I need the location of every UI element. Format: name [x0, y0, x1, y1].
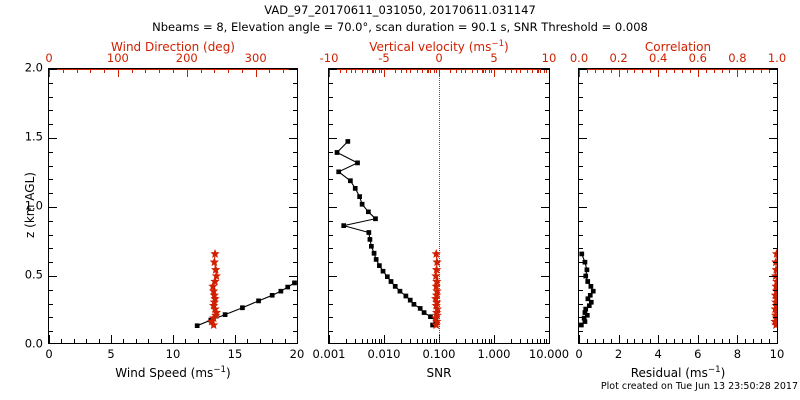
- data-point: [257, 299, 261, 303]
- x-tick-bottom-minor: [86, 339, 87, 343]
- x-tick-bottom-minor: [247, 339, 248, 343]
- y-tick-left-minor: [49, 166, 53, 167]
- y-tick-left-minor: [49, 248, 53, 249]
- x-tick-bottom-minor: [706, 339, 707, 343]
- x-tick-bottom-minor: [714, 339, 715, 343]
- y-tick-right-minor: [773, 152, 777, 153]
- y-tick-left-minor: [579, 179, 583, 180]
- y-tick-left: [579, 207, 587, 208]
- x-tick-top-minor: [611, 69, 612, 73]
- x-axis-tick-label-top: -10: [320, 53, 339, 64]
- data-point: [408, 298, 412, 302]
- x-tick-bottom: [485, 339, 486, 343]
- x-tick-bottom-minor: [729, 339, 730, 343]
- panel-residual: [578, 68, 778, 344]
- x-tick-top-minor: [527, 69, 528, 73]
- data-point: [373, 217, 377, 221]
- data-point: [773, 250, 778, 257]
- y-tick-right-minor: [773, 97, 777, 98]
- y-tick-left-minor: [49, 221, 53, 222]
- y-tick-left-minor: [579, 262, 583, 263]
- data-point: [586, 279, 590, 283]
- y-tick-left-minor: [329, 248, 333, 249]
- x-tick-bottom: [489, 339, 490, 343]
- data-point: [367, 230, 371, 234]
- panel-snr-frame: [328, 68, 550, 344]
- y-tick-right-minor: [545, 304, 549, 305]
- x-tick-bottom: [436, 339, 437, 343]
- data-point: [381, 269, 385, 273]
- y-tick-left-minor: [49, 235, 53, 236]
- x-tick-top-mirror: [456, 69, 457, 73]
- x-axis-tick-label-top: 0.6: [689, 53, 707, 64]
- x-axis-title-top: Wind Direction (deg): [111, 40, 235, 54]
- y-tick-left-minor: [329, 331, 333, 332]
- x-axis-tick-label-bottom: 20: [290, 349, 305, 360]
- x-tick-bottom: [698, 335, 699, 343]
- x-tick-bottom-minor: [136, 339, 137, 343]
- x-tick-top-minor: [269, 69, 270, 73]
- x-tick-top-mirror: [532, 69, 533, 73]
- x-tick-top-minor: [634, 69, 635, 73]
- x-tick-bottom-minor: [74, 339, 75, 343]
- data-point: [279, 289, 283, 293]
- x-tick-bottom-minor: [223, 339, 224, 343]
- x-tick-top-mirror: [491, 69, 492, 73]
- x-tick-top-mirror: [355, 69, 356, 73]
- data-point: [292, 281, 296, 285]
- x-tick-top-minor: [472, 69, 473, 73]
- x-tick-top-mirror: [477, 69, 478, 73]
- data-point: [589, 284, 593, 288]
- x-axis-tick-label-top: 200: [176, 53, 198, 64]
- x-tick-top-minor: [745, 69, 746, 73]
- panel-residual-series: [579, 69, 777, 343]
- x-tick-bottom: [367, 339, 368, 343]
- y-tick-right-minor: [293, 83, 297, 84]
- x-axis-tick-label-top: 100: [107, 53, 129, 64]
- panel-wind-frame: [48, 68, 298, 344]
- y-tick-right-minor: [293, 317, 297, 318]
- x-axis-tick-label-top: 0: [45, 53, 52, 64]
- x-axis-tick-label-top: 5: [490, 53, 497, 64]
- y-tick-right-minor: [545, 166, 549, 167]
- y-tick-right-minor: [293, 110, 297, 111]
- x-tick-top-minor: [395, 69, 396, 73]
- x-tick-top-minor: [214, 69, 215, 73]
- x-axis-tick-label-bottom: 10: [770, 349, 785, 360]
- y-tick-right: [541, 207, 549, 208]
- x-tick-top-minor: [483, 69, 484, 73]
- x-tick-bottom-minor: [123, 339, 124, 343]
- y-tick-right-minor: [773, 110, 777, 111]
- data-point: [404, 294, 408, 298]
- data-point: [385, 275, 389, 279]
- x-tick-bottom-minor: [148, 339, 149, 343]
- y-tick-left-minor: [579, 97, 583, 98]
- series-markers-1: [335, 139, 438, 327]
- y-tick-right: [769, 69, 777, 70]
- series-line-1: [337, 141, 436, 325]
- data-point: [335, 150, 339, 154]
- x-axis-tick-label-bottom: 0.001: [313, 349, 346, 360]
- y-tick-left-minor: [579, 248, 583, 249]
- x-tick-top-mirror: [367, 69, 368, 73]
- x-tick-bottom-minor: [761, 339, 762, 343]
- x-tick-top-minor: [362, 69, 363, 73]
- y-tick-left-minor: [49, 304, 53, 305]
- x-axis-tick-label-bottom: 10.000: [529, 349, 569, 360]
- x-tick-top-minor: [706, 69, 707, 73]
- y-tick-left-minor: [49, 262, 53, 263]
- y-tick-right-minor: [773, 262, 777, 263]
- x-tick-top-minor: [587, 69, 588, 73]
- data-point: [374, 257, 378, 261]
- x-tick-top: [118, 69, 119, 77]
- x-tick-top-mirror: [520, 69, 521, 73]
- y-tick-left-minor: [49, 290, 53, 291]
- y-tick-right-minor: [293, 235, 297, 236]
- y-tick-left-minor: [579, 304, 583, 305]
- y-tick-right-minor: [773, 166, 777, 167]
- x-tick-bottom-minor: [745, 339, 746, 343]
- y-tick-right-minor: [773, 83, 777, 84]
- y-tick-left: [579, 276, 587, 277]
- y-tick-left-minor: [329, 235, 333, 236]
- x-axis-title-bottom: SNR: [427, 366, 452, 380]
- y-tick-right: [289, 276, 297, 277]
- x-tick-bottom: [777, 335, 778, 343]
- x-tick-bottom: [544, 339, 545, 343]
- x-tick-top-mirror: [434, 69, 435, 73]
- y-tick-right-minor: [773, 331, 777, 332]
- x-tick-bottom-minor: [682, 339, 683, 343]
- x-tick-bottom: [537, 339, 538, 343]
- y-tick-left-minor: [579, 166, 583, 167]
- x-tick-top-minor: [682, 69, 683, 73]
- data-point: [240, 306, 244, 310]
- x-tick-bottom: [329, 335, 330, 343]
- x-tick-top-minor: [650, 69, 651, 73]
- x-tick-top-minor: [351, 69, 352, 73]
- data-point: [580, 252, 584, 256]
- y-tick-left: [329, 207, 337, 208]
- x-tick-top: [549, 69, 550, 77]
- x-tick-bottom-minor: [185, 339, 186, 343]
- x-tick-bottom: [619, 335, 620, 343]
- y-tick-left-minor: [579, 193, 583, 194]
- x-tick-bottom-minor: [99, 339, 100, 343]
- x-tick-bottom: [434, 339, 435, 343]
- y-tick-left-minor: [49, 152, 53, 153]
- y-tick-right-minor: [293, 124, 297, 125]
- x-axis-title-top: Vertical velocity (ms−1): [369, 40, 508, 54]
- data-point: [348, 179, 352, 183]
- x-tick-top-minor: [77, 69, 78, 73]
- y-tick-left-minor: [329, 83, 333, 84]
- y-tick-right-minor: [293, 193, 297, 194]
- data-point: [591, 289, 595, 293]
- x-axis-tick-label-bottom: 10: [166, 349, 181, 360]
- x-tick-bottom: [465, 339, 466, 343]
- y-tick-left-minor: [329, 124, 333, 125]
- y-tick-left: [579, 69, 587, 70]
- y-axis-tick-label: 1.0: [25, 201, 43, 212]
- data-point: [412, 302, 416, 306]
- y-tick-right: [769, 276, 777, 277]
- x-tick-bottom-minor: [674, 339, 675, 343]
- x-tick-bottom-minor: [634, 339, 635, 343]
- y-tick-right-minor: [545, 331, 549, 332]
- x-tick-bottom: [520, 339, 521, 343]
- x-tick-top-mirror: [436, 69, 437, 73]
- y-tick-left-minor: [329, 97, 333, 98]
- x-tick-top: [187, 69, 188, 77]
- x-tick-bottom: [532, 339, 533, 343]
- x-tick-bottom: [540, 339, 541, 343]
- y-tick-left-minor: [49, 83, 53, 84]
- y-tick-right: [769, 207, 777, 208]
- x-tick-bottom-minor: [722, 339, 723, 343]
- y-tick-left: [329, 138, 337, 139]
- x-tick-bottom-minor: [603, 339, 604, 343]
- x-axis-tick-label-bottom: 5: [107, 349, 114, 360]
- data-point: [772, 266, 778, 273]
- y-tick-left-minor: [49, 97, 53, 98]
- x-tick-bottom: [375, 339, 376, 343]
- x-tick-top-minor: [406, 69, 407, 73]
- x-tick-bottom-minor: [260, 339, 261, 343]
- x-tick-bottom-minor: [587, 339, 588, 343]
- y-tick-right-minor: [545, 97, 549, 98]
- data-point: [286, 285, 290, 289]
- x-tick-bottom: [579, 335, 580, 343]
- x-tick-top-mirror: [375, 69, 376, 73]
- x-tick-top-minor: [603, 69, 604, 73]
- x-tick-top-minor: [283, 69, 284, 73]
- y-tick-left-minor: [49, 110, 53, 111]
- y-tick-right-minor: [773, 304, 777, 305]
- x-axis-tick-label-bottom: 6: [694, 349, 701, 360]
- y-tick-right-minor: [293, 331, 297, 332]
- x-tick-top-minor: [690, 69, 691, 73]
- x-tick-top-mirror: [485, 69, 486, 73]
- x-axis-tick-label-top: 300: [245, 53, 267, 64]
- x-tick-bottom: [355, 339, 356, 343]
- y-axis-tick-label: 2.0: [25, 63, 43, 74]
- x-axis-tick-label-bottom: 15: [228, 349, 243, 360]
- x-tick-bottom: [549, 335, 550, 343]
- y-tick-right: [541, 69, 549, 70]
- y-tick-left-minor: [329, 317, 333, 318]
- x-tick-bottom: [346, 339, 347, 343]
- x-tick-top: [384, 69, 385, 77]
- x-axis-tick-label-bottom: 1.000: [478, 349, 511, 360]
- x-tick-top-minor: [674, 69, 675, 73]
- y-tick-right-minor: [773, 124, 777, 125]
- y-tick-right: [541, 138, 549, 139]
- y-tick-left-minor: [329, 110, 333, 111]
- y-tick-left-minor: [579, 152, 583, 153]
- x-tick-bottom: [737, 335, 738, 343]
- x-tick-top-minor: [722, 69, 723, 73]
- x-tick-top: [579, 69, 580, 77]
- y-tick-right-minor: [773, 317, 777, 318]
- data-point: [372, 251, 376, 255]
- x-tick-bottom-minor: [210, 339, 211, 343]
- x-tick-bottom: [422, 339, 423, 343]
- y-tick-right-minor: [545, 110, 549, 111]
- x-tick-bottom: [401, 339, 402, 343]
- x-tick-bottom: [417, 339, 418, 343]
- x-tick-bottom-minor: [753, 339, 754, 343]
- y-tick-left-minor: [329, 221, 333, 222]
- x-tick-top-mirror: [430, 69, 431, 73]
- snr-threshold-line: [439, 69, 440, 343]
- x-tick-top-minor: [595, 69, 596, 73]
- x-tick-top-minor: [132, 69, 133, 73]
- x-tick-top-minor: [642, 69, 643, 73]
- x-tick-bottom-minor: [272, 339, 273, 343]
- y-tick-left-minor: [579, 110, 583, 111]
- data-point: [422, 311, 426, 315]
- x-tick-top-minor: [505, 69, 506, 73]
- y-tick-left-minor: [329, 290, 333, 291]
- x-tick-bottom: [482, 339, 483, 343]
- y-tick-right-minor: [293, 152, 297, 153]
- y-tick-left-minor: [329, 152, 333, 153]
- data-point: [353, 186, 357, 190]
- x-tick-top: [49, 69, 50, 77]
- x-tick-bottom-minor: [611, 339, 612, 343]
- y-tick-right-minor: [545, 179, 549, 180]
- y-tick-left-minor: [49, 193, 53, 194]
- y-tick-left: [329, 69, 337, 70]
- y-tick-left-minor: [579, 221, 583, 222]
- x-tick-bottom-minor: [769, 339, 770, 343]
- x-tick-bottom: [430, 339, 431, 343]
- data-point: [360, 202, 364, 206]
- data-point: [369, 244, 373, 248]
- x-tick-top-minor: [729, 69, 730, 73]
- y-tick-right: [541, 276, 549, 277]
- x-tick-top-minor: [201, 69, 202, 73]
- y-tick-right-minor: [545, 317, 549, 318]
- y-tick-right: [289, 69, 297, 70]
- y-tick-left-minor: [49, 179, 53, 180]
- y-tick-right-minor: [773, 221, 777, 222]
- x-axis-tick-label-top: 0.2: [609, 53, 627, 64]
- y-tick-left-minor: [49, 317, 53, 318]
- x-tick-bottom: [511, 339, 512, 343]
- data-point: [337, 170, 341, 174]
- y-tick-right-minor: [293, 248, 297, 249]
- x-tick-bottom: [297, 335, 298, 343]
- x-tick-bottom: [173, 335, 174, 343]
- x-tick-top-minor: [63, 69, 64, 73]
- x-tick-top-mirror: [549, 69, 550, 77]
- x-tick-top-mirror: [489, 69, 490, 73]
- x-tick-top-minor: [428, 69, 429, 73]
- x-tick-top: [619, 69, 620, 77]
- y-tick-right: [289, 138, 297, 139]
- y-tick-right-minor: [773, 235, 777, 236]
- data-point: [358, 195, 362, 199]
- x-tick-bottom-minor: [690, 339, 691, 343]
- data-point: [366, 210, 370, 214]
- y-tick-left: [329, 276, 337, 277]
- y-tick-left-minor: [579, 124, 583, 125]
- y-tick-left: [49, 138, 57, 139]
- data-point: [195, 324, 199, 328]
- x-tick-bottom-minor: [198, 339, 199, 343]
- y-tick-left-minor: [579, 83, 583, 84]
- x-tick-top: [329, 69, 330, 77]
- x-tick-top-minor: [461, 69, 462, 73]
- x-tick-top-minor: [228, 69, 229, 73]
- y-axis-tick-label: 1.5: [25, 132, 43, 143]
- data-point: [346, 139, 350, 143]
- x-axis-title-bottom: Residual (ms−1): [631, 366, 726, 380]
- y-tick-left-minor: [579, 331, 583, 332]
- x-tick-bottom: [658, 335, 659, 343]
- x-tick-bottom: [491, 339, 492, 343]
- y-tick-left-minor: [329, 193, 333, 194]
- x-tick-bottom-minor: [642, 339, 643, 343]
- x-tick-bottom: [362, 339, 363, 343]
- x-tick-bottom: [49, 335, 50, 343]
- panel-wind-series: [49, 69, 297, 343]
- x-tick-top-mirror: [379, 69, 380, 73]
- x-tick-bottom: [527, 339, 528, 343]
- x-tick-bottom: [410, 339, 411, 343]
- x-tick-top-mirror: [465, 69, 466, 73]
- y-tick-right: [289, 207, 297, 208]
- x-tick-bottom: [427, 339, 428, 343]
- y-tick-left-minor: [329, 262, 333, 263]
- x-tick-top-minor: [627, 69, 628, 73]
- y-tick-left-minor: [329, 179, 333, 180]
- x-tick-top-mirror: [401, 69, 402, 73]
- x-tick-top-minor: [450, 69, 451, 73]
- y-tick-right-minor: [545, 152, 549, 153]
- y-tick-right-minor: [773, 248, 777, 249]
- x-tick-bottom: [372, 339, 373, 343]
- x-tick-top-minor: [173, 69, 174, 73]
- x-tick-bottom: [235, 335, 236, 343]
- y-tick-left-minor: [49, 124, 53, 125]
- plot-creation-footer: Plot created on Tue Jun 13 23:50:28 2017: [0, 381, 798, 392]
- x-tick-top-mirror: [410, 69, 411, 73]
- y-axis-tick-label: 0.0: [25, 339, 43, 350]
- x-tick-bottom-minor: [61, 339, 62, 343]
- x-axis-tick-label-bottom: 4: [655, 349, 662, 360]
- x-axis-title-top: Correlation: [645, 40, 711, 54]
- figure-title: VAD_97_20170611_031050, 20170611.031147: [0, 3, 800, 17]
- x-tick-bottom-minor: [666, 339, 667, 343]
- y-tick-right-minor: [293, 304, 297, 305]
- y-tick-right-minor: [545, 83, 549, 84]
- y-tick-right-minor: [293, 166, 297, 167]
- x-tick-top-mirror: [381, 69, 382, 73]
- x-tick-bottom: [494, 335, 495, 343]
- x-tick-top-mirror: [346, 69, 347, 73]
- y-tick-right-minor: [293, 97, 297, 98]
- x-tick-top-minor: [90, 69, 91, 73]
- x-axis-tick-label-bottom: 2: [615, 349, 622, 360]
- panel-wind: [48, 68, 298, 344]
- x-tick-top-minor: [714, 69, 715, 73]
